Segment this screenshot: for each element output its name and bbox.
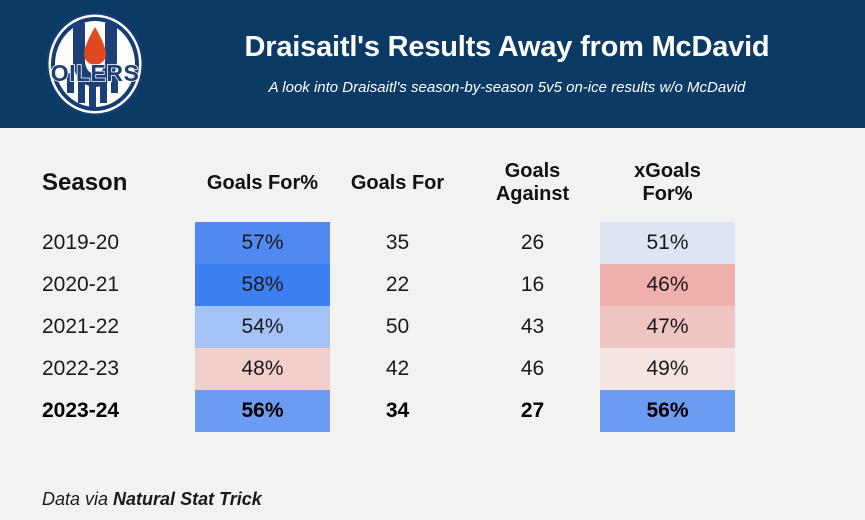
- cell-goals-against: 26: [465, 222, 600, 264]
- column-header-goals-for: Goals For: [330, 144, 465, 222]
- stats-table: Season Goals For% Goals For GoalsAgainst…: [40, 144, 735, 432]
- column-header-season: Season: [40, 144, 195, 222]
- column-header-goals-for-pct: Goals For%: [195, 144, 330, 222]
- cell-goals-for-pct: 56%: [195, 390, 330, 432]
- cell-season: 2023-24: [40, 390, 195, 432]
- cell-goals-for: 34: [330, 390, 465, 432]
- svg-text:OILERS: OILERS: [51, 60, 140, 86]
- data-source-prefix: Data via: [42, 489, 113, 509]
- cell-goals-for-pct: 48%: [195, 348, 330, 390]
- cell-xgoals-for-pct: 47%: [600, 306, 735, 348]
- page-title: Draisaitl's Results Away from McDavid: [245, 32, 770, 64]
- table-row: 2021-2254%504347%: [40, 306, 735, 348]
- cell-goals-for-pct: 58%: [195, 264, 330, 306]
- cell-xgoals-for-pct: 51%: [600, 222, 735, 264]
- data-source-note: Data via Natural Stat Trick: [42, 489, 262, 510]
- edmonton-oilers-logo: OILERS OILERS ®: [45, 11, 145, 117]
- header-title-block: Draisaitl's Results Away from McDavid A …: [172, 0, 842, 128]
- cell-season: 2019-20: [40, 222, 195, 264]
- cell-xgoals-for-pct: 56%: [600, 390, 735, 432]
- table-body: 2019-2057%352651%2020-2158%221646%2021-2…: [40, 222, 735, 432]
- cell-xgoals-for-pct: 46%: [600, 264, 735, 306]
- cell-xgoals-for-pct: 49%: [600, 348, 735, 390]
- cell-goals-for: 22: [330, 264, 465, 306]
- cell-goals-for: 50: [330, 306, 465, 348]
- table-row: 2019-2057%352651%: [40, 222, 735, 264]
- stats-table-area: Season Goals For% Goals For GoalsAgainst…: [0, 128, 865, 520]
- column-header-xgoals-for-pct: xGoalsFor%: [600, 144, 735, 222]
- data-source-name: Natural Stat Trick: [113, 489, 262, 509]
- cell-goals-against: 46: [465, 348, 600, 390]
- cell-goals-against: 43: [465, 306, 600, 348]
- page-header: OILERS OILERS ® Draisaitl's Results Away…: [0, 0, 865, 128]
- cell-season: 2021-22: [40, 306, 195, 348]
- page-subtitle: A look into Draisaitl's season-by-season…: [269, 79, 746, 96]
- cell-season: 2020-21: [40, 264, 195, 306]
- column-header-goals-against: GoalsAgainst: [465, 144, 600, 222]
- table-row: 2023-2456%342756%: [40, 390, 735, 432]
- cell-goals-for: 35: [330, 222, 465, 264]
- table-header-row: Season Goals For% Goals For GoalsAgainst…: [40, 144, 735, 222]
- table-row: 2022-2348%424649%: [40, 348, 735, 390]
- table-row: 2020-2158%221646%: [40, 264, 735, 306]
- cell-goals-for-pct: 57%: [195, 222, 330, 264]
- cell-goals-against: 27: [465, 390, 600, 432]
- cell-goals-against: 16: [465, 264, 600, 306]
- cell-season: 2022-23: [40, 348, 195, 390]
- cell-goals-for: 42: [330, 348, 465, 390]
- trademark-symbol: ®: [137, 106, 142, 113]
- cell-goals-for-pct: 54%: [195, 306, 330, 348]
